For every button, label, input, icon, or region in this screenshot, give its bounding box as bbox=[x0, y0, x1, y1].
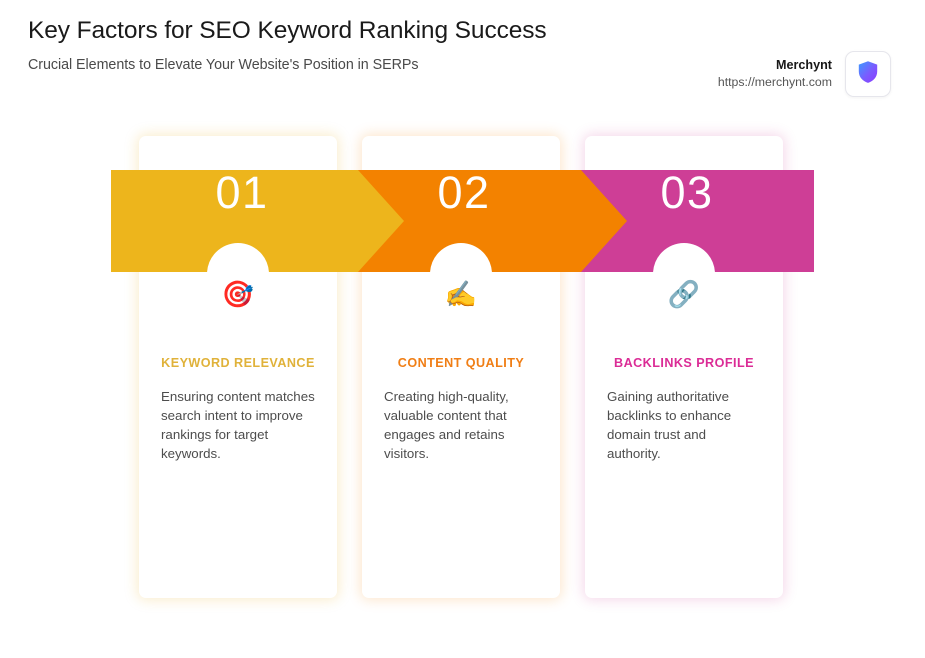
step-number: 02 bbox=[349, 170, 579, 215]
steps-diagram: 01 02 03 🎯 KEYWORD RELEVANCE Ensuring co… bbox=[0, 130, 925, 605]
step-description: Gaining authoritative backlinks to enhan… bbox=[601, 387, 767, 464]
brand-text: Merchynt https://merchynt.com bbox=[718, 57, 832, 91]
step-description: Ensuring content matches search intent t… bbox=[155, 387, 321, 464]
shield-icon bbox=[857, 60, 879, 89]
step-number: 03 bbox=[572, 170, 802, 215]
brand-logo-box bbox=[845, 51, 891, 97]
target-dart-icon: 🎯 bbox=[155, 282, 321, 312]
page-title: Key Factors for SEO Keyword Ranking Succ… bbox=[28, 14, 628, 49]
page-subtitle: Crucial Elements to Elevate Your Website… bbox=[28, 57, 628, 73]
chain-link-icon: 🔗 bbox=[601, 282, 767, 312]
brand-name: Merchynt bbox=[718, 57, 832, 74]
title-block: Key Factors for SEO Keyword Ranking Succ… bbox=[28, 14, 628, 73]
step-label: CONTENT QUALITY bbox=[378, 354, 544, 374]
step-label: BACKLINKS PROFILE bbox=[601, 354, 767, 374]
step-content: 🔗 BACKLINKS PROFILE Gaining authoritativ… bbox=[585, 282, 783, 464]
brand-url: https://merchynt.com bbox=[718, 74, 832, 91]
writing-hand-icon: ✍️ bbox=[378, 282, 544, 312]
brand-block: Merchynt https://merchynt.com bbox=[718, 51, 891, 97]
step-label: KEYWORD RELEVANCE bbox=[155, 354, 321, 374]
step-content: 🎯 KEYWORD RELEVANCE Ensuring content mat… bbox=[139, 282, 337, 464]
infographic-canvas: Key Factors for SEO Keyword Ranking Succ… bbox=[0, 0, 925, 658]
step-number: 01 bbox=[127, 170, 357, 215]
header: Key Factors for SEO Keyword Ranking Succ… bbox=[0, 0, 925, 120]
step-content: ✍️ CONTENT QUALITY Creating high-quality… bbox=[362, 282, 560, 464]
step-description: Creating high-quality, valuable content … bbox=[378, 387, 544, 464]
